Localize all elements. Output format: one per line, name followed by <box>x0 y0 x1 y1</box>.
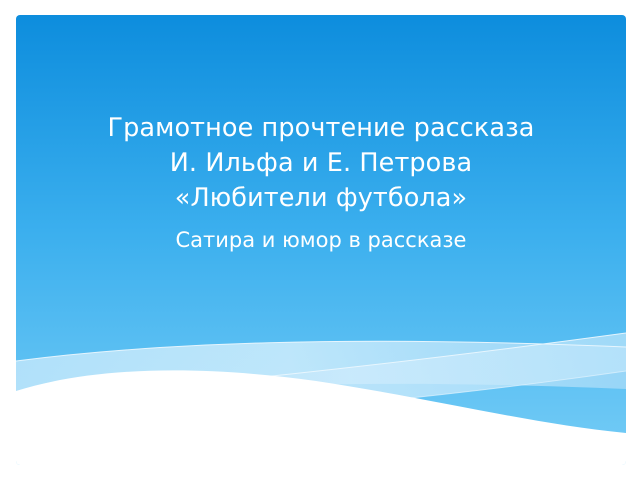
slide-title-line-1: Грамотное прочтение рассказа <box>42 111 600 146</box>
slide-title: Грамотное прочтение рассказа И. Ильфа и … <box>42 111 600 216</box>
slide-title-line-3: «Любители футбола» <box>42 181 600 216</box>
wave-decoration <box>16 315 626 465</box>
slide-title-line-2: И. Ильфа и Е. Петрова <box>42 146 600 181</box>
slide-canvas: Грамотное прочтение рассказа И. Ильфа и … <box>0 0 640 480</box>
slide-subtitle: Сатира и юмор в рассказе <box>42 224 600 257</box>
presentation-slide: Грамотное прочтение рассказа И. Ильфа и … <box>16 15 626 465</box>
slide-text-block: Грамотное прочтение рассказа И. Ильфа и … <box>16 111 626 257</box>
